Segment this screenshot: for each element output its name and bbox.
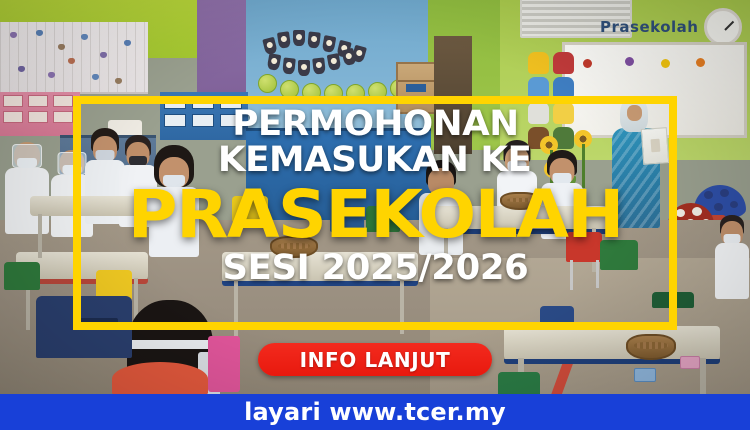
headline-line-2: KEMASUKAN KE (218, 142, 531, 178)
wall-clock-icon (704, 8, 742, 46)
headline-highlight: PRASEKOLAH (128, 182, 623, 248)
butterfly-motif (58, 44, 65, 50)
butterfly-motif (100, 52, 107, 58)
footer-url-text[interactable]: layari www.tcer.my (244, 398, 506, 426)
info-lanjut-label: INFO LANJUT (300, 348, 451, 372)
butterfly-motif (124, 40, 131, 46)
butterfly-motif (36, 30, 43, 36)
butterfly-curtain (0, 22, 148, 94)
whiteboard-magnet (696, 58, 705, 67)
plastic-chair (4, 262, 40, 290)
butterfly-motif (92, 74, 99, 80)
poster-image: Prasekolah (0, 0, 750, 430)
footer-bar: layari www.tcer.my (0, 394, 750, 430)
butterfly-motif (81, 34, 88, 40)
whiteboard-magnet (583, 59, 592, 68)
info-lanjut-button[interactable]: INFO LANJUT (258, 343, 492, 376)
butterfly-motif (18, 66, 25, 72)
woven-basket (626, 334, 676, 360)
seated-child (4, 142, 50, 234)
classroom-table (504, 326, 720, 360)
pink-storage-cabinet (0, 92, 80, 136)
pink-item (208, 336, 240, 392)
whiteboard-magnet (661, 59, 670, 68)
bunting-banner (262, 30, 378, 64)
butterfly-motif (115, 78, 122, 84)
whiteboard-magnet (625, 57, 634, 66)
wall-sign-prasekolah: Prasekolah (600, 18, 698, 36)
headline-block: PERMOHONAN KEMASUKAN KE PRASEKOLAH SESI … (73, 96, 677, 330)
seated-child (714, 215, 750, 299)
red-chair-foreground (112, 362, 208, 396)
headline-line-1: PERMOHONAN (232, 106, 518, 142)
butterfly-motif (48, 72, 55, 78)
butterfly-motif (68, 58, 75, 64)
headline-session: SESI 2025/2026 (222, 250, 528, 287)
butterfly-motif (10, 32, 17, 38)
